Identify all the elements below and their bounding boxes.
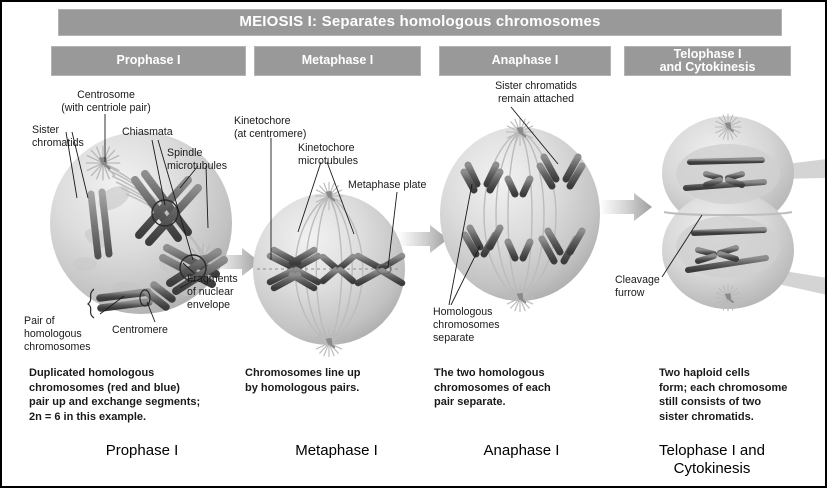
arrow-anaphase-to-telophase <box>600 193 652 221</box>
label-metaphase-plate: Metaphase plate <box>348 179 458 192</box>
label-sister-chromatids: Sister chromatids <box>32 124 102 150</box>
phase-header-label: Metaphase I <box>302 54 374 68</box>
label-homologous-chromosomes-separate: Homologous chromosomes separate <box>433 306 523 345</box>
figure-title: MEIOSIS I: Separates homologous chromoso… <box>239 14 600 30</box>
meiosis-i-figure: MEIOSIS I: Separates homologous chromoso… <box>0 0 827 488</box>
phase-header-metaphase-i: Metaphase I <box>254 46 421 76</box>
caption-prophase-i: Duplicated homologous chromosomes (red a… <box>29 366 229 425</box>
phase-header-label: Anaphase I <box>492 54 559 68</box>
phase-header-label: Telophase I and Cytokinesis <box>660 48 756 75</box>
figure-title-bar: MEIOSIS I: Separates homologous chromoso… <box>58 9 782 36</box>
caption-telophase-i: Two haploid cells form; each chromosome … <box>659 366 809 425</box>
bottom-phase-name-telophase-i: Telophase I and Cytokinesis <box>632 442 792 479</box>
bottom-phase-name-line1: Telophase I and <box>632 442 792 460</box>
phase-header-label-line1: Telophase I <box>674 47 742 61</box>
label-centromere: Centromere <box>112 324 200 337</box>
phase-header-prophase-i: Prophase I <box>51 46 246 76</box>
telophase-chromosomes-bottom <box>676 216 780 278</box>
label-kinetochore: Kinetochore (at centromere) <box>234 115 340 141</box>
label-fragments-of-nuclear-envelope: Fragments of nuclear envelope <box>187 273 259 312</box>
cell-anaphase-i <box>440 118 600 311</box>
cell-metaphase-i <box>253 182 405 356</box>
caption-metaphase-i: Chromosomes line up by homologous pairs. <box>245 366 415 395</box>
phase-header-label-line2: and Cytokinesis <box>660 60 756 74</box>
phase-header-telophase-i: Telophase I and Cytokinesis <box>624 46 791 76</box>
label-chiasmata: Chiasmata <box>122 126 202 139</box>
caption-anaphase-i: The two homologous chromosomes of each p… <box>434 366 609 410</box>
bottom-phase-name-line2: Cytokinesis <box>632 460 792 478</box>
arrow-metaphase-to-anaphase <box>398 225 448 253</box>
label-spindle-microtubules: Spindle microtubules <box>167 147 247 173</box>
phase-header-anaphase-i: Anaphase I <box>439 46 611 76</box>
label-sister-chromatids-remain-attached: Sister chromatids remain attached <box>478 80 594 106</box>
bottom-phase-name-prophase-i: Prophase I <box>62 442 222 460</box>
telophase-chromosomes-top <box>676 144 780 204</box>
phase-header-label: Prophase I <box>117 54 181 68</box>
label-kinetochore-microtubules: Kinetochore microtubules <box>298 142 384 168</box>
bottom-phase-name-metaphase-i: Metaphase I <box>254 442 419 460</box>
bottom-phase-name-anaphase-i: Anaphase I <box>439 442 604 460</box>
label-cleavage-furrow: Cleavage furrow <box>615 274 685 300</box>
label-pair-of-homologous-chromosomes: Pair of homologous chromosomes <box>24 315 108 354</box>
label-centrosome: Centrosome (with centriole pair) <box>42 89 170 115</box>
